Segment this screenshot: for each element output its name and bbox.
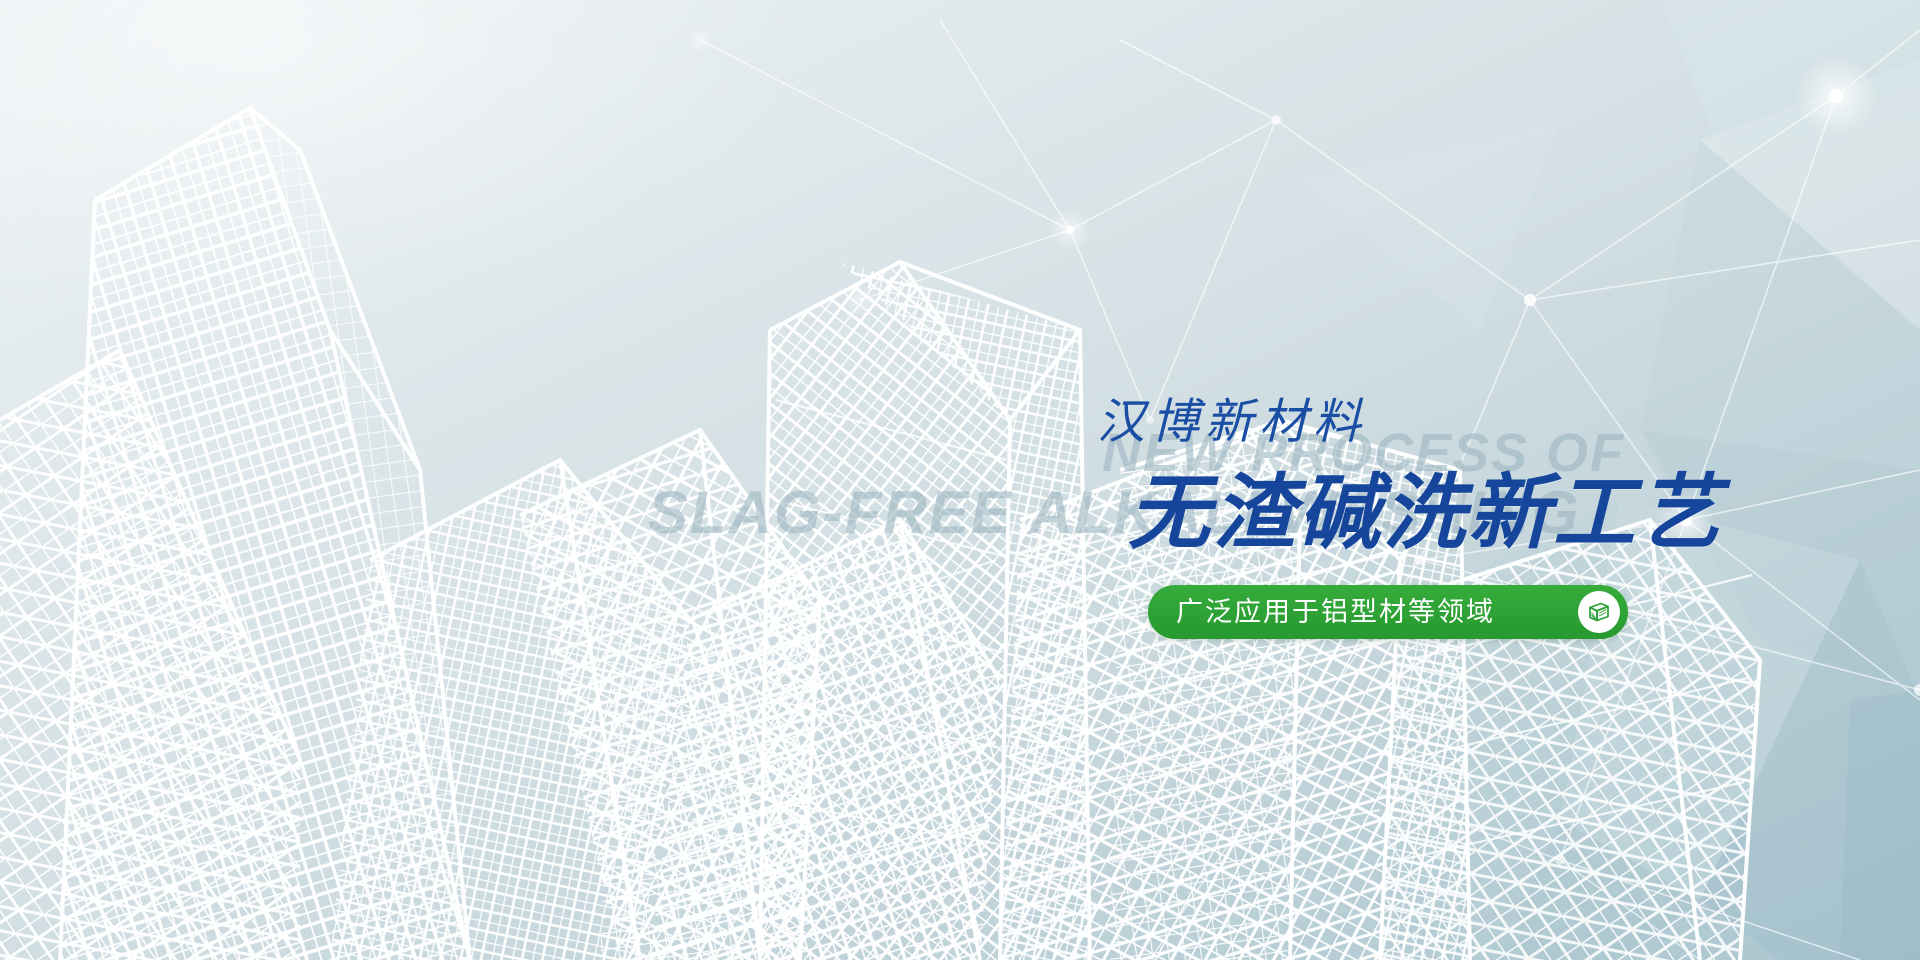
- banner-content: NEW PROCESS OF SLAG-FREE ALKALI WASHING …: [0, 0, 1920, 960]
- page-title: 无渣碱洗新工艺: [1128, 470, 1723, 559]
- tagline-badge[interactable]: 广泛应用于铝型材等领域: [1148, 585, 1628, 639]
- brand-name: 汉博新材料: [1097, 398, 1367, 446]
- hero-banner: NEW PROCESS OF SLAG-FREE ALKALI WASHING …: [0, 0, 1920, 960]
- cube-icon: [1578, 591, 1620, 633]
- tagline-label: 广泛应用于铝型材等领域: [1176, 599, 1495, 626]
